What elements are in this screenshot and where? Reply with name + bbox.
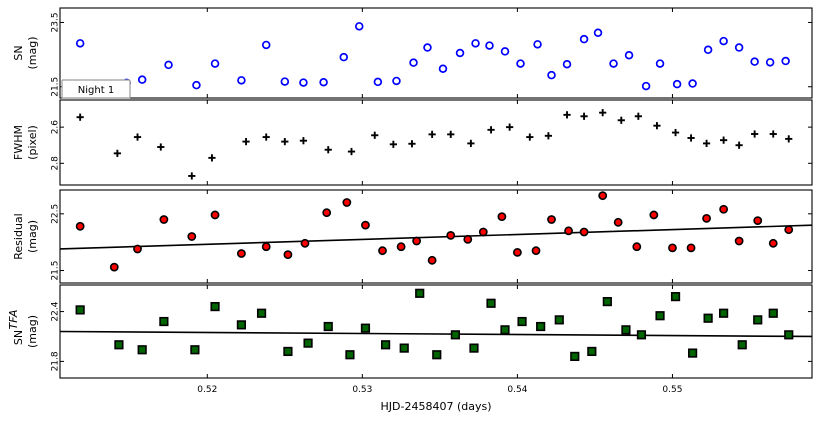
data-point (736, 237, 743, 244)
data-point (410, 59, 417, 66)
data-point (633, 243, 640, 250)
data-point (238, 77, 245, 84)
ylabel-line: SN (12, 45, 25, 60)
ylabel-line: SN (12, 330, 25, 345)
data-point (643, 83, 650, 90)
data-point (211, 211, 218, 218)
trendline-residual (60, 225, 812, 249)
data-point (785, 226, 792, 233)
data-point (457, 50, 464, 57)
data-point (669, 244, 676, 251)
data-markers-sntfa (76, 290, 792, 361)
data-point (323, 209, 330, 216)
data-point (571, 353, 579, 361)
data-point (429, 257, 436, 264)
data-point (526, 133, 533, 140)
data-point (635, 113, 642, 120)
data-point (379, 247, 386, 254)
data-point (191, 346, 199, 354)
data-point (720, 206, 727, 213)
data-point (390, 141, 397, 148)
data-point (470, 344, 478, 352)
data-point (424, 44, 431, 51)
ytick-label: 22.5 (51, 204, 61, 224)
ytick-label: 22.4 (51, 301, 61, 321)
panel-fwhm: 2.62.8FWHM(pixel) (12, 100, 812, 185)
data-point (548, 216, 555, 223)
multi-panel-plot: 21.523.5SN(mag)2.62.8FWHM(pixel)21.522.5… (0, 0, 830, 421)
data-point (736, 44, 743, 51)
xtick-label: 0.54 (507, 385, 527, 395)
panel-sn: 21.523.5SN(mag) (12, 8, 812, 98)
data-point (581, 36, 588, 43)
data-point (211, 303, 219, 311)
data-point (657, 60, 664, 67)
data-markers-fwhm (77, 109, 793, 179)
data-point (393, 78, 400, 85)
data-point (281, 138, 288, 145)
ytick-label: 2.8 (51, 156, 61, 171)
data-point (653, 122, 660, 129)
data-point (447, 131, 454, 138)
data-point (188, 233, 195, 240)
data-point (785, 331, 793, 339)
trendline-sntfa (60, 332, 812, 337)
data-point (487, 126, 494, 133)
data-point (770, 240, 777, 247)
data-point (704, 314, 712, 322)
data-point (320, 79, 327, 86)
data-point (518, 318, 526, 326)
data-point (580, 113, 587, 120)
data-point (555, 316, 563, 324)
ylabel-line: (pixel) (26, 125, 39, 160)
data-point (77, 223, 84, 230)
data-point (580, 228, 587, 235)
data-point (111, 264, 118, 271)
ytick-label: 2.6 (51, 120, 61, 135)
data-point (514, 249, 521, 256)
data-point (720, 309, 728, 317)
data-point (770, 130, 777, 137)
data-point (548, 72, 555, 79)
data-point (638, 331, 646, 339)
data-point (487, 299, 495, 307)
ylabel-line: (mag) (26, 220, 39, 253)
data-point (563, 111, 570, 118)
data-point (674, 81, 681, 88)
data-point (208, 154, 215, 161)
data-point (618, 117, 625, 124)
data-point (532, 247, 539, 254)
ytick-label: 23.5 (51, 12, 61, 32)
ytick-label: 21.5 (51, 261, 61, 281)
data-point (498, 213, 505, 220)
data-point (705, 46, 712, 53)
data-point (114, 150, 121, 157)
data-point (472, 40, 479, 47)
data-point (467, 140, 474, 147)
data-point (782, 58, 789, 65)
data-point (545, 132, 552, 139)
data-point (284, 348, 292, 356)
data-point (238, 250, 245, 257)
data-point (626, 52, 633, 59)
data-point (346, 351, 354, 359)
data-point (720, 38, 727, 45)
data-point (325, 146, 332, 153)
data-point (382, 341, 390, 349)
data-point (751, 58, 758, 65)
data-point (188, 172, 195, 179)
data-point (165, 61, 172, 68)
data-point (300, 79, 307, 86)
figure-root: 21.523.5SN(mag)2.62.8FWHM(pixel)21.522.5… (0, 0, 830, 421)
data-point (650, 211, 657, 218)
data-point (534, 41, 541, 48)
data-point (751, 130, 758, 137)
data-point (413, 237, 420, 244)
data-point (362, 222, 369, 229)
data-point (447, 232, 454, 239)
data-point (77, 114, 84, 121)
data-point (754, 217, 761, 224)
data-point (736, 142, 743, 149)
data-point (672, 129, 679, 136)
ylabel-sntfa: SNTFA(mag) (7, 310, 39, 348)
data-point (340, 54, 347, 61)
data-point (720, 137, 727, 144)
data-markers-residual (77, 192, 793, 271)
data-point (464, 236, 471, 243)
data-point (115, 341, 123, 349)
panel-residual: 21.522.5Residual(mag) (12, 190, 812, 283)
data-point (408, 140, 415, 147)
data-point (138, 346, 146, 354)
data-point (689, 349, 697, 357)
data-point (738, 341, 746, 349)
data-point (769, 309, 777, 317)
data-point (433, 351, 441, 359)
data-point (785, 135, 792, 142)
data-point (362, 324, 370, 332)
ytick-label: 21.5 (51, 77, 61, 97)
data-point (139, 76, 146, 83)
data-point (134, 133, 141, 140)
ylabel-line: (mag) (26, 36, 39, 69)
ylabel-line: Residual (12, 213, 25, 259)
data-point (304, 339, 312, 347)
data-point (76, 306, 84, 314)
ylabel-subscript: TFA (7, 310, 20, 330)
data-point (212, 60, 219, 67)
data-point (501, 326, 509, 334)
data-point (687, 134, 694, 141)
xtick-label: 0.53 (352, 385, 372, 395)
data-point (672, 293, 680, 301)
data-point (263, 42, 270, 49)
data-point (193, 82, 200, 89)
data-point (622, 326, 630, 334)
data-point (416, 290, 424, 298)
ylabel-line: (mag) (26, 315, 39, 348)
data-point (502, 48, 509, 55)
ylabel-line: FWHM (12, 125, 25, 160)
data-point (398, 243, 405, 250)
data-point (371, 132, 378, 139)
data-point (703, 215, 710, 222)
data-point (588, 348, 596, 356)
data-markers-sn (77, 23, 789, 90)
panel-sntfa: 21.822.4SNTFA(mag) (7, 285, 812, 378)
data-point (324, 323, 332, 331)
data-point (157, 143, 164, 150)
data-point (263, 243, 270, 250)
data-point (400, 344, 408, 352)
night-annotation-label: Night 1 (78, 85, 114, 96)
data-point (767, 59, 774, 66)
data-point (429, 131, 436, 138)
data-point (595, 29, 602, 36)
data-point (656, 312, 664, 320)
data-point (343, 199, 350, 206)
night-annotation: Night 1 (62, 80, 130, 98)
panel-frame-sn (60, 8, 812, 98)
data-point (689, 80, 696, 87)
xtick-label: 0.55 (662, 385, 682, 395)
xtick-label: 0.52 (197, 385, 217, 395)
data-point (356, 23, 363, 30)
ytick-label: 21.8 (51, 351, 61, 371)
panel-frame-fwhm (60, 100, 812, 185)
data-point (242, 138, 249, 145)
data-point (687, 244, 694, 251)
data-point (281, 78, 288, 85)
data-point (452, 331, 460, 339)
data-point (440, 65, 447, 72)
data-point (486, 42, 493, 49)
data-point (564, 61, 571, 68)
data-point (258, 309, 266, 317)
data-point (284, 251, 291, 258)
data-point (506, 124, 513, 131)
data-point (238, 321, 246, 329)
data-point (77, 40, 84, 47)
data-point (565, 227, 572, 234)
data-point (754, 316, 762, 324)
data-point (599, 109, 606, 116)
data-point (160, 216, 167, 223)
data-point (374, 79, 381, 86)
data-point (615, 219, 622, 226)
data-point (517, 60, 524, 67)
data-point (703, 140, 710, 147)
data-point (599, 192, 606, 199)
data-point (604, 298, 612, 306)
x-axis: 0.520.530.540.55HJD-2458407 (days) (197, 385, 682, 413)
data-point (480, 228, 487, 235)
data-point (134, 245, 141, 252)
data-point (263, 133, 270, 140)
data-point (537, 323, 545, 331)
data-point (610, 60, 617, 67)
data-point (300, 137, 307, 144)
data-point (160, 318, 168, 326)
data-point (301, 240, 308, 247)
x-axis-label: HJD-2458407 (days) (381, 400, 492, 413)
data-point (348, 148, 355, 155)
